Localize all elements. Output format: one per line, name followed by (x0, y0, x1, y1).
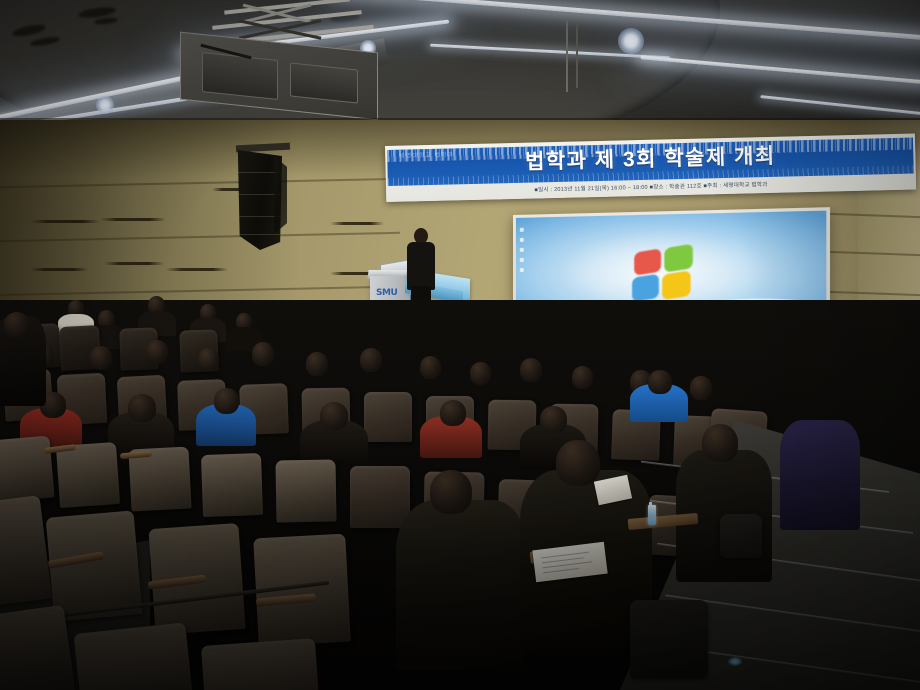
audience-head (214, 388, 239, 414)
podium-logo: SMU (376, 288, 397, 298)
audience-head (540, 406, 567, 433)
wall-panel-notch (166, 268, 228, 271)
audience-head (440, 400, 466, 426)
wall-panel-notch (104, 262, 164, 265)
linear-light-strip (760, 95, 920, 116)
student-head (556, 440, 600, 486)
audience-head (572, 366, 593, 389)
step-light (728, 657, 742, 666)
audience-head (198, 348, 219, 371)
wall-panel-notch (30, 220, 100, 223)
audience-head (470, 362, 491, 385)
ceiling-spotlight (96, 96, 114, 114)
speaker-cabinet-side (274, 156, 287, 234)
lecture-hall-photo: 세명대학교 법학과 법학과 제 3회 학술제 개최 ■일시 : 2013년 11… (0, 0, 920, 690)
desktop-icons (520, 228, 525, 278)
audience-head (252, 342, 274, 366)
audience-head (90, 346, 112, 370)
audience-head (306, 352, 328, 376)
backpack (630, 600, 708, 678)
student-jacket (780, 420, 860, 530)
audience-head (648, 370, 672, 394)
windows-logo (632, 243, 695, 303)
wall-line-array-speaker (234, 144, 290, 266)
projector-unit (290, 62, 358, 103)
audience-head (320, 402, 348, 430)
audience-head (4, 312, 30, 338)
presenter-torso (407, 242, 435, 290)
wall-panel-notch (100, 218, 166, 221)
audience-head (128, 394, 156, 422)
ceiling-hanger-rod (566, 20, 568, 92)
ceiling-hanger-rod (576, 22, 578, 88)
audience-head (520, 358, 542, 382)
audience-head (690, 376, 712, 400)
wall-panel-notch (30, 268, 88, 271)
audience-head (146, 340, 168, 364)
projector-unit (202, 52, 278, 100)
student-head (702, 424, 738, 462)
student-head (430, 470, 472, 514)
backpack (720, 514, 762, 558)
audience-head (360, 348, 382, 372)
audience-head (420, 356, 441, 379)
water-bottle (648, 505, 656, 525)
ceiling-spotlight (618, 28, 644, 54)
student-jacket (396, 500, 526, 670)
projector-lift (178, 4, 388, 112)
wall-panel-notch (330, 222, 384, 225)
